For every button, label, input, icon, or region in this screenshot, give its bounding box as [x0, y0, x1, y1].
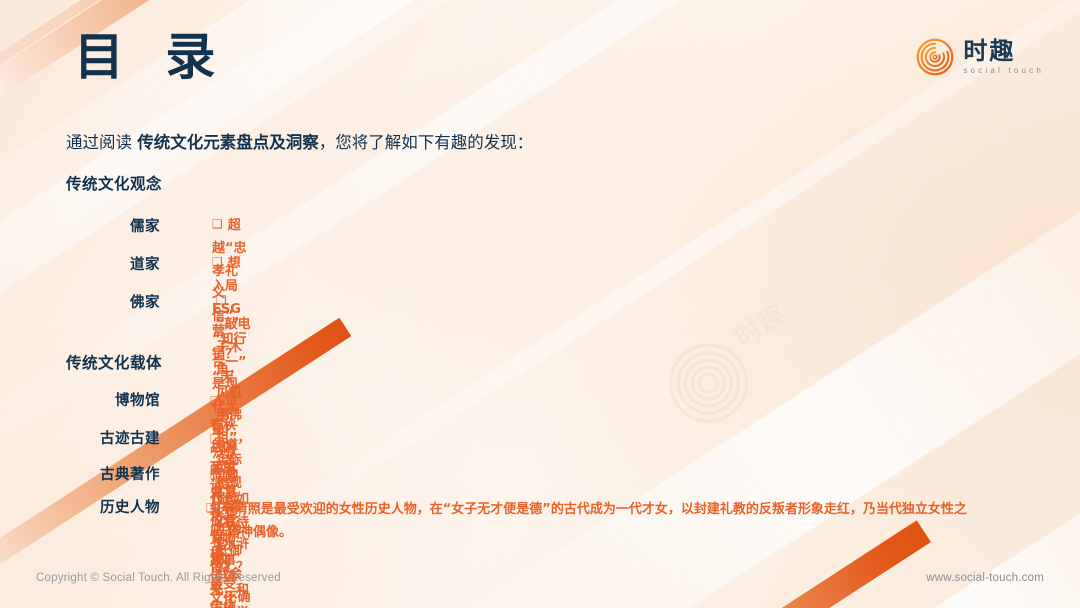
- bullet-icon: ❑: [212, 214, 223, 235]
- row-label-historic-figures: 历史人物: [30, 496, 160, 517]
- row-label-rujia: 儒家: [30, 215, 160, 236]
- row-label-museum: 博物馆: [30, 389, 160, 410]
- row-text-continuation: 精神偶像。: [206, 522, 1036, 545]
- bullet-icon: ❑: [210, 391, 221, 412]
- intro-suffix: ，您将了解如下有趣的发现：: [319, 133, 534, 152]
- row-label-historic-sites: 古迹古建: [30, 427, 160, 448]
- intro-emphasis: 传统文化元素盘点及洞察: [137, 133, 319, 152]
- footer-copyright: Copyright © Social Touch. All Rights Res…: [36, 572, 281, 584]
- intro-line: 通过阅读 传统文化元素盘点及洞察，您将了解如下有趣的发现：: [66, 129, 533, 153]
- row-text-historic-figures: ❑李清照是最受欢迎的女性历史人物，在“女子无才便是德”的古代成为一代才女，以封建…: [206, 498, 1036, 545]
- section-title-traditional-carriers: 传统文化载体: [66, 351, 162, 373]
- bullet-icon: ❑: [212, 252, 223, 273]
- slide-content: 通过阅读 传统文化元素盘点及洞察，您将了解如下有趣的发现： 传统文化观念 传统文…: [0, 0, 1080, 608]
- section-title-traditional-concepts: 传统文化观念: [66, 172, 162, 194]
- bullet-icon: ❑: [210, 429, 221, 450]
- row-text: 李清照是最受欢迎的女性历史人物，在“女子无才便是德”的古代成为一代才女，以封建礼…: [222, 502, 967, 517]
- row-label-classical-works: 古典著作: [30, 463, 160, 484]
- footer-website: www.social-touch.com: [926, 572, 1044, 584]
- row-label-daojia: 道家: [30, 253, 160, 274]
- bullet-icon: ❑: [210, 465, 221, 486]
- row-label-fojia: 佛家: [30, 291, 160, 312]
- bullet-icon: ❑: [206, 498, 217, 519]
- presentation-slide: 时趣 目 录 时趣 social touch: [0, 0, 1080, 608]
- intro-prefix: 通过阅读: [66, 133, 137, 152]
- bullet-icon: ❑: [216, 290, 227, 311]
